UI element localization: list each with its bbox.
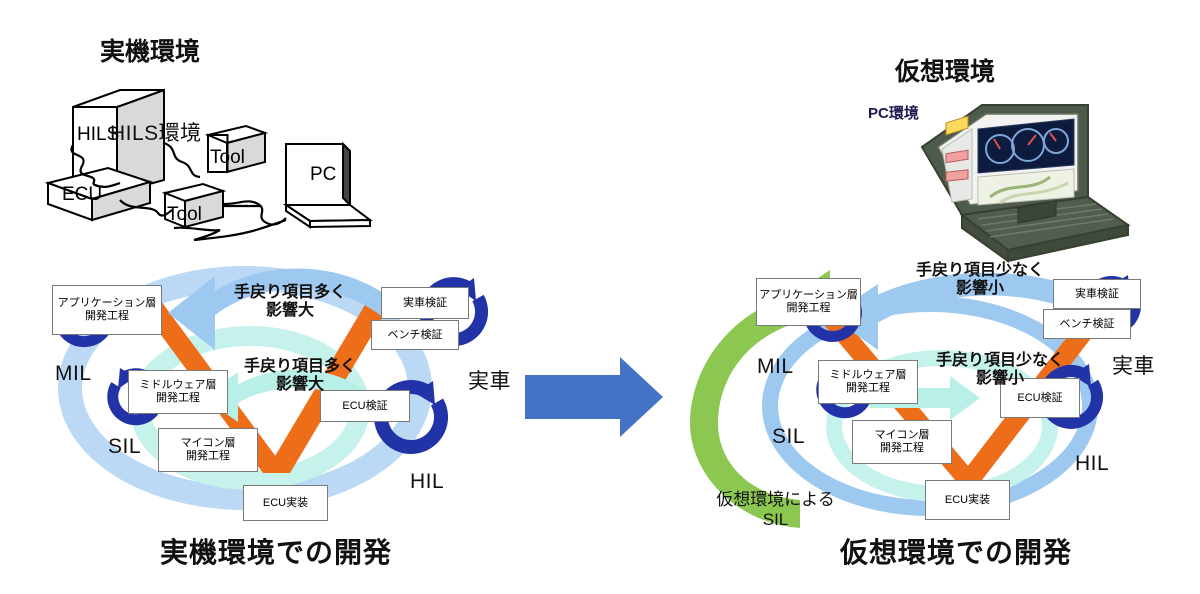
left-annotation-rework-inner: 手戻り項目多く 影響大	[210, 358, 390, 395]
left-annotation-rework-inner-line1: 手戻り項目多く	[210, 358, 390, 376]
tool-box-upper-icon: Tool	[208, 126, 265, 172]
right-annotation-rework-outer-line1: 手戻り項目少なく	[885, 262, 1075, 280]
left-label-sil: SIL	[108, 435, 141, 459]
right-box-ecu-implementation-label: ECU実装	[945, 494, 990, 507]
hils-environment-illustration: HILS ECU Tool Tool PC	[60, 80, 540, 280]
left-box-actual-vehicle-verification-label: 実車検証	[403, 297, 447, 310]
left-annotation-rework-inner-line2: 影響大	[210, 376, 390, 394]
left-box-ecu-implementation-label: ECU実装	[263, 497, 308, 510]
right-label-sil: SIL	[772, 425, 805, 449]
right-green-label-virtual-sil: 仮想環境による SIL	[688, 490, 863, 529]
left-box-microcontroller-layer-label: マイコン層 開発工程	[181, 437, 236, 462]
transition-arrow	[515, 345, 695, 465]
left-box-ecu-implementation[interactable]: ECU実装	[243, 485, 328, 521]
right-green-label-line1: 仮想環境による	[688, 490, 863, 510]
right-box-actual-vehicle-verification-label: 実車検証	[1075, 288, 1119, 301]
svg-text:ECU: ECU	[62, 184, 102, 205]
svg-text:PC: PC	[310, 164, 336, 185]
left-box-ecu-verification-label: ECU検証	[342, 400, 387, 413]
right-annotation-rework-outer: 手戻り項目少なく 影響小	[885, 262, 1075, 299]
left-box-microcontroller-layer[interactable]: マイコン層 開発工程	[158, 428, 258, 472]
left-annotation-rework-outer-line2: 影響大	[200, 302, 380, 320]
right-annotation-rework-inner: 手戻り項目少なく 影響小	[905, 352, 1095, 389]
left-box-bench-verification[interactable]: ベンチ検証	[371, 320, 459, 350]
right-box-middleware-layer[interactable]: ミドルウェア層 開発工程	[818, 360, 918, 404]
left-label-actual-vehicle: 実車	[468, 365, 511, 395]
svg-text:Tool: Tool	[210, 147, 245, 168]
left-vmodel-title: 実機環境での開発	[160, 531, 392, 571]
right-vmodel-title: 仮想環境での開発	[840, 531, 1072, 571]
left-annotation-rework-outer-line1: 手戻り項目多く	[200, 284, 380, 302]
left-annotation-rework-outer: 手戻り項目多く 影響大	[200, 284, 380, 321]
tool-box-lower-icon: Tool	[165, 184, 223, 227]
left-box-application-layer-label: アプリケーション層 開発工程	[58, 297, 157, 322]
left-box-middleware-layer-label: ミドルウェア層 開発工程	[140, 379, 217, 404]
left-box-ecu-verification[interactable]: ECU検証	[320, 390, 410, 422]
svg-text:Tool: Tool	[167, 204, 202, 225]
right-box-application-layer-label: アプリケーション層 開発工程	[759, 289, 858, 314]
right-green-label-line2: SIL	[688, 510, 863, 530]
left-box-bench-verification-label: ベンチ検証	[388, 329, 443, 342]
right-box-bench-verification[interactable]: ベンチ検証	[1043, 309, 1131, 339]
right-box-application-layer[interactable]: アプリケーション層 開発工程	[756, 278, 861, 326]
right-panel-heading: 仮想環境	[895, 52, 995, 88]
left-box-application-layer[interactable]: アプリケーション層 開発工程	[52, 285, 162, 335]
right-box-microcontroller-layer[interactable]: マイコン層 開発工程	[852, 420, 952, 464]
right-box-microcontroller-layer-label: マイコン層 開発工程	[875, 429, 930, 454]
left-label-mil: MIL	[55, 362, 92, 386]
hils-environment-label: HILS環境	[110, 117, 202, 147]
left-panel-heading: 実機環境	[100, 32, 200, 68]
right-annotation-rework-outer-line2: 影響小	[885, 280, 1075, 298]
pc-laptop-icon: PC	[286, 144, 370, 227]
right-label-hil: HIL	[1075, 452, 1109, 476]
left-label-hil: HIL	[410, 470, 444, 494]
right-box-ecu-verification-label: ECU検証	[1017, 392, 1062, 405]
laptop-computer-icon	[900, 85, 1150, 265]
right-label-actual-vehicle: 実車	[1112, 350, 1155, 380]
right-label-mil: MIL	[757, 355, 794, 379]
right-annotation-rework-inner-line2: 影響小	[905, 370, 1095, 388]
right-box-middleware-layer-label: ミドルウェア層 開発工程	[830, 369, 907, 394]
left-box-actual-vehicle-verification[interactable]: 実車検証	[381, 287, 469, 319]
right-box-bench-verification-label: ベンチ検証	[1060, 318, 1115, 331]
right-box-ecu-implementation[interactable]: ECU実装	[925, 480, 1010, 520]
right-annotation-rework-inner-line1: 手戻り項目少なく	[905, 352, 1095, 370]
